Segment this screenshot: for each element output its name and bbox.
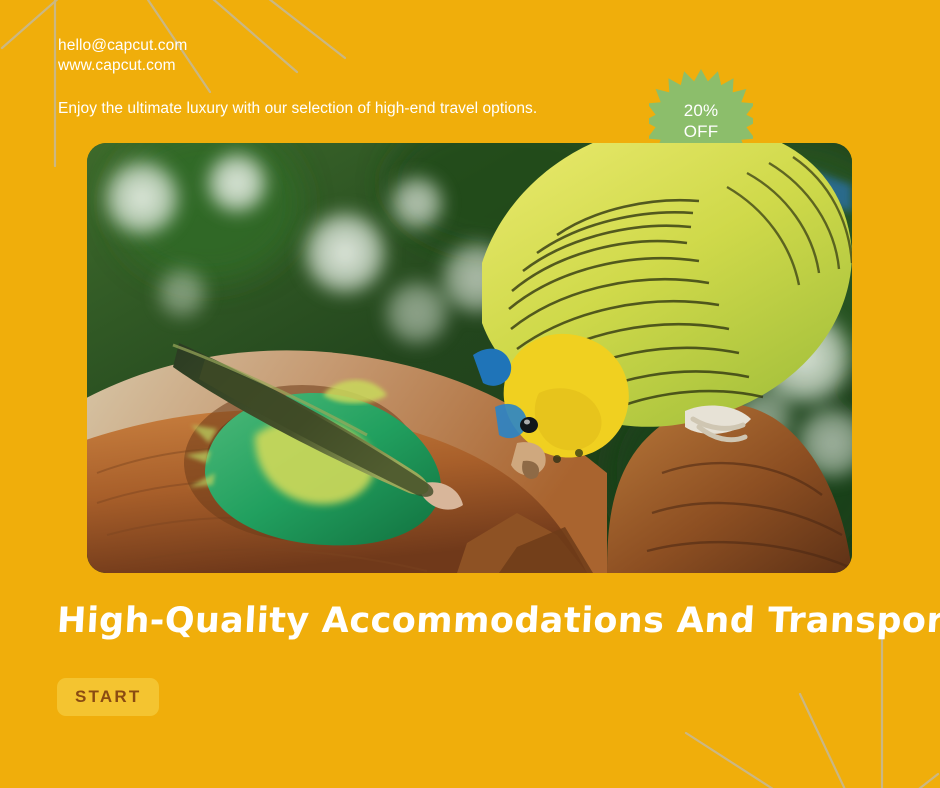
header-text-block: hello@capcut.com www.capcut.com Enjoy th… <box>58 36 678 119</box>
start-button[interactable]: START <box>57 678 159 716</box>
page-title: High-Quality Accommodations And Transpor… <box>56 598 888 644</box>
deco-line-br-3 <box>905 774 938 788</box>
contact-website[interactable]: www.capcut.com <box>58 56 678 76</box>
deco-line-br-2 <box>800 694 850 788</box>
hero-photo[interactable] <box>87 143 852 573</box>
deco-line-br-1 <box>686 733 790 788</box>
promo-poster: hello@capcut.com www.capcut.com Enjoy th… <box>0 0 940 788</box>
badge-off-label: OFF <box>684 121 719 142</box>
tagline: Enjoy the ultimate luxury with our selec… <box>58 99 678 119</box>
contact-email[interactable]: hello@capcut.com <box>58 36 678 56</box>
budgerigar-photo-illustration <box>87 143 852 573</box>
badge-percent: 20% <box>684 100 719 121</box>
